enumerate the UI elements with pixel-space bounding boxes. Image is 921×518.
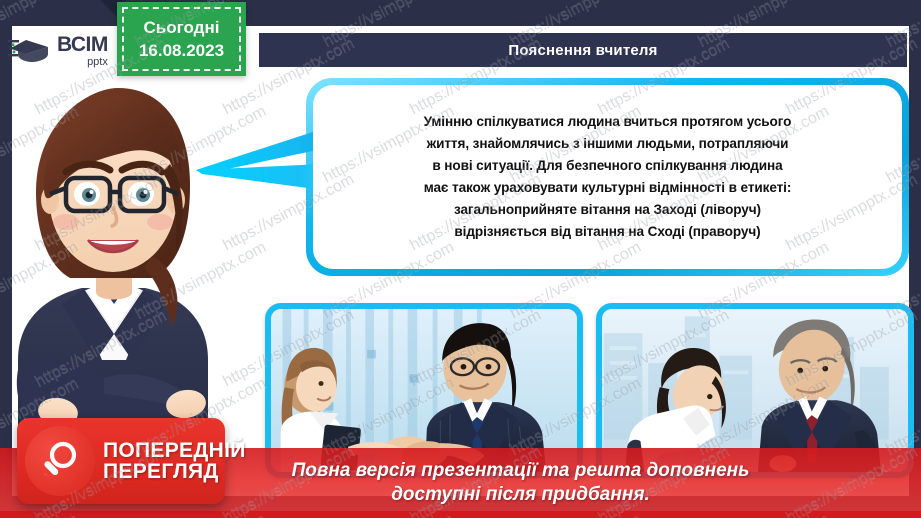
magnifier-icon <box>25 426 95 496</box>
page-title: Пояснення вчителя <box>508 42 657 59</box>
date-badge-label: Сьогодні <box>144 18 220 38</box>
preview-button-line2: ПЕРЕГЛЯД <box>103 461 246 482</box>
speech-bubble-text: Умінню спілкуватися людина вчиться протя… <box>424 111 792 243</box>
preview-button-line1: ПОПЕРЕДНІЙ <box>103 440 246 461</box>
presentation-slide: ВСІМ pptx Сьогодні 16.08.2023 Пояснення … <box>0 0 921 518</box>
header-bar: Пояснення вчителя <box>257 31 909 69</box>
preview-button[interactable]: ПОПЕРЕДНІЙ ПЕРЕГЛЯД <box>17 418 225 504</box>
cartoon-teacher-illustration <box>0 60 250 460</box>
logo-name: ВСІМ <box>57 34 108 55</box>
preview-button-label: ПОПЕРЕДНІЙ ПЕРЕГЛЯД <box>103 440 246 483</box>
purchase-notice-text: Повна версія презентації та решта доповн… <box>172 459 750 507</box>
speech-bubble-body: Умінню спілкуватися людина вчиться протя… <box>313 85 902 269</box>
purchase-notice-line1: Повна версія презентації та решта доповн… <box>292 460 750 481</box>
purchase-notice-line2: доступні після придбання. <box>391 484 650 505</box>
date-badge-value: 16.08.2023 <box>139 41 224 61</box>
speech-bubble: Умінню спілкуватися людина вчиться протя… <box>196 78 909 278</box>
